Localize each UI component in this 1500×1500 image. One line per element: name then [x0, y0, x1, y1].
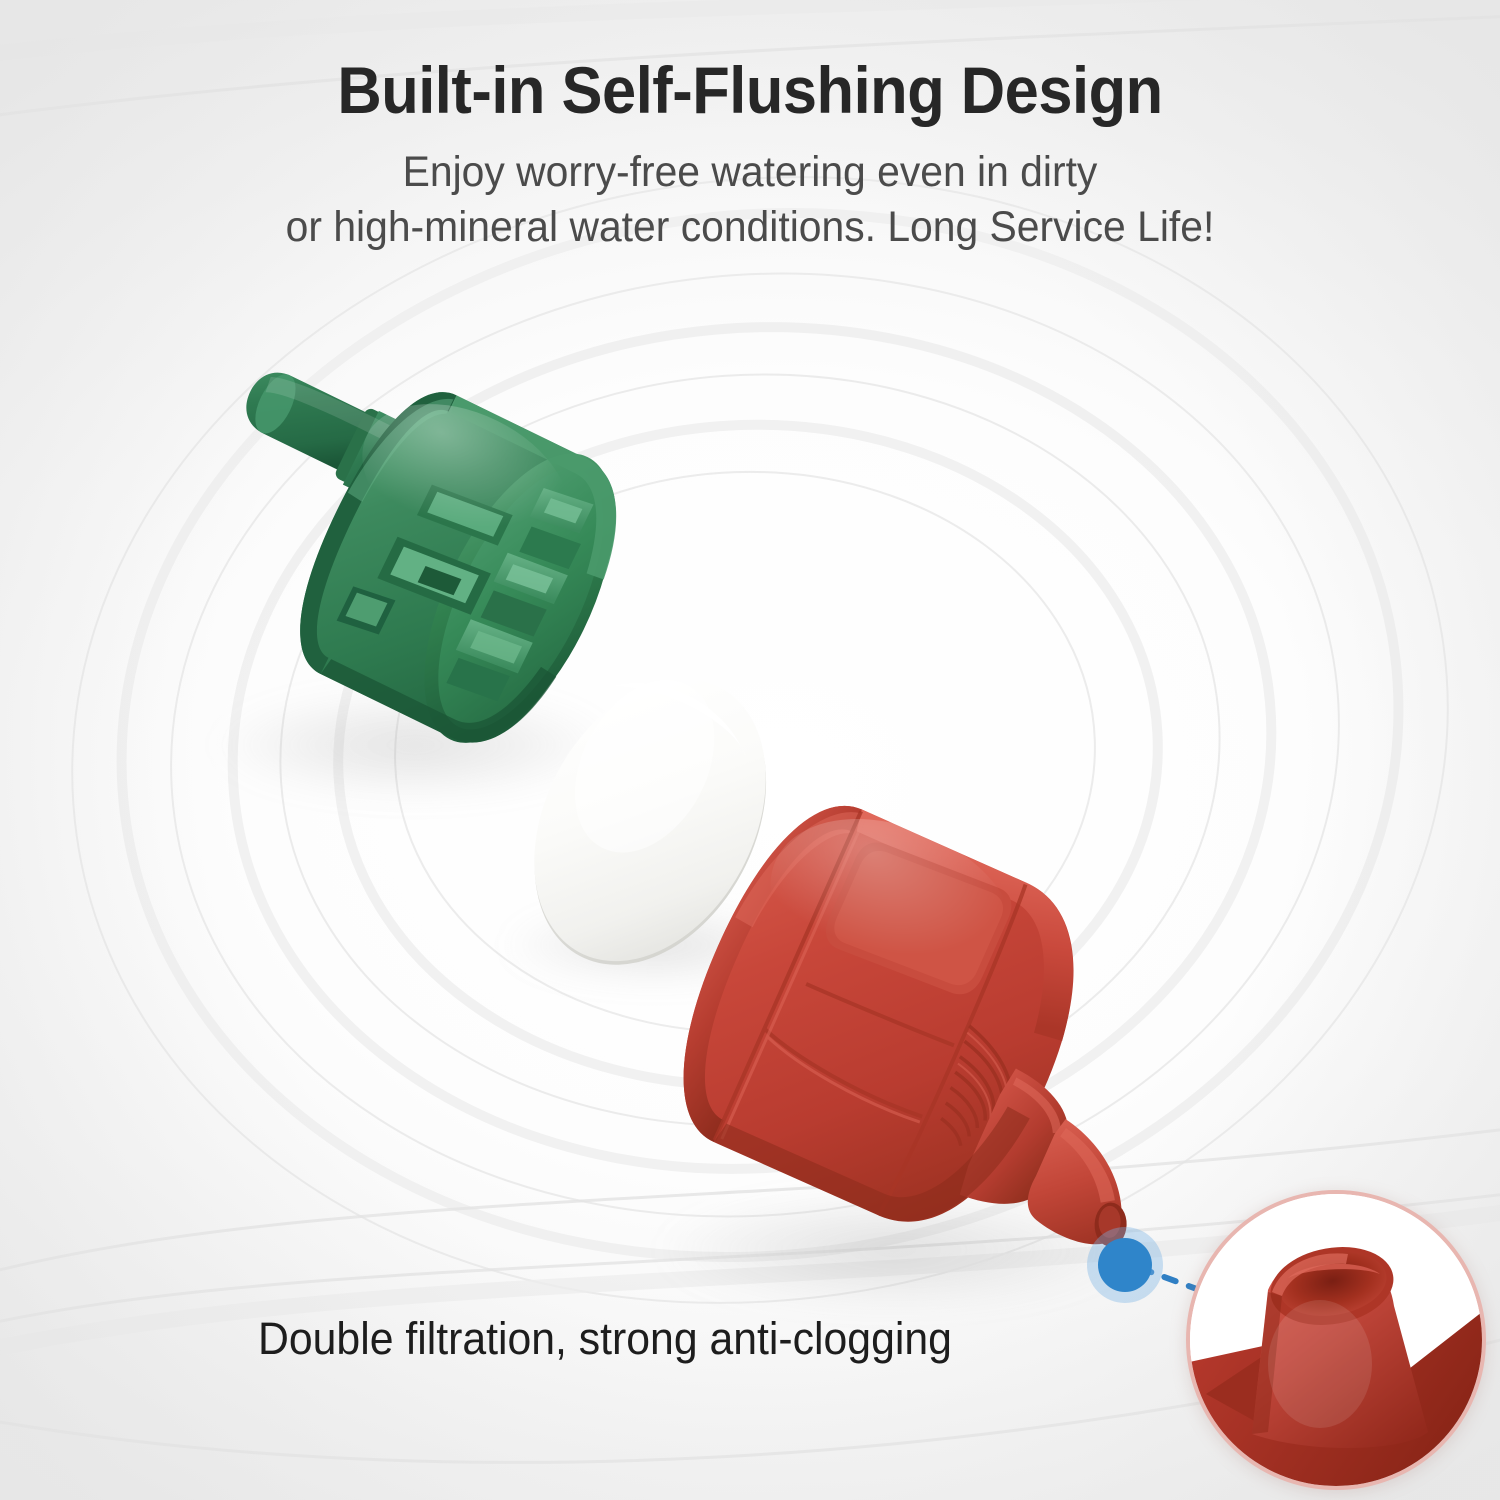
subtitle-line-1: Enjoy worry-free watering even in dirty — [38, 148, 1463, 197]
callout-marker-dot — [1098, 1238, 1152, 1292]
product-infographic: Built-in Self-Flushing Design Enjoy worr… — [0, 0, 1500, 1500]
magnifier-content — [1190, 1194, 1482, 1486]
subtitle-line-2: or high-mineral water conditions. Long S… — [38, 203, 1463, 252]
page-title: Built-in Self-Flushing Design — [53, 52, 1448, 128]
magnifier-detail-view — [1186, 1190, 1486, 1490]
feature-caption: Double filtration, strong anti-clogging — [258, 1313, 952, 1365]
